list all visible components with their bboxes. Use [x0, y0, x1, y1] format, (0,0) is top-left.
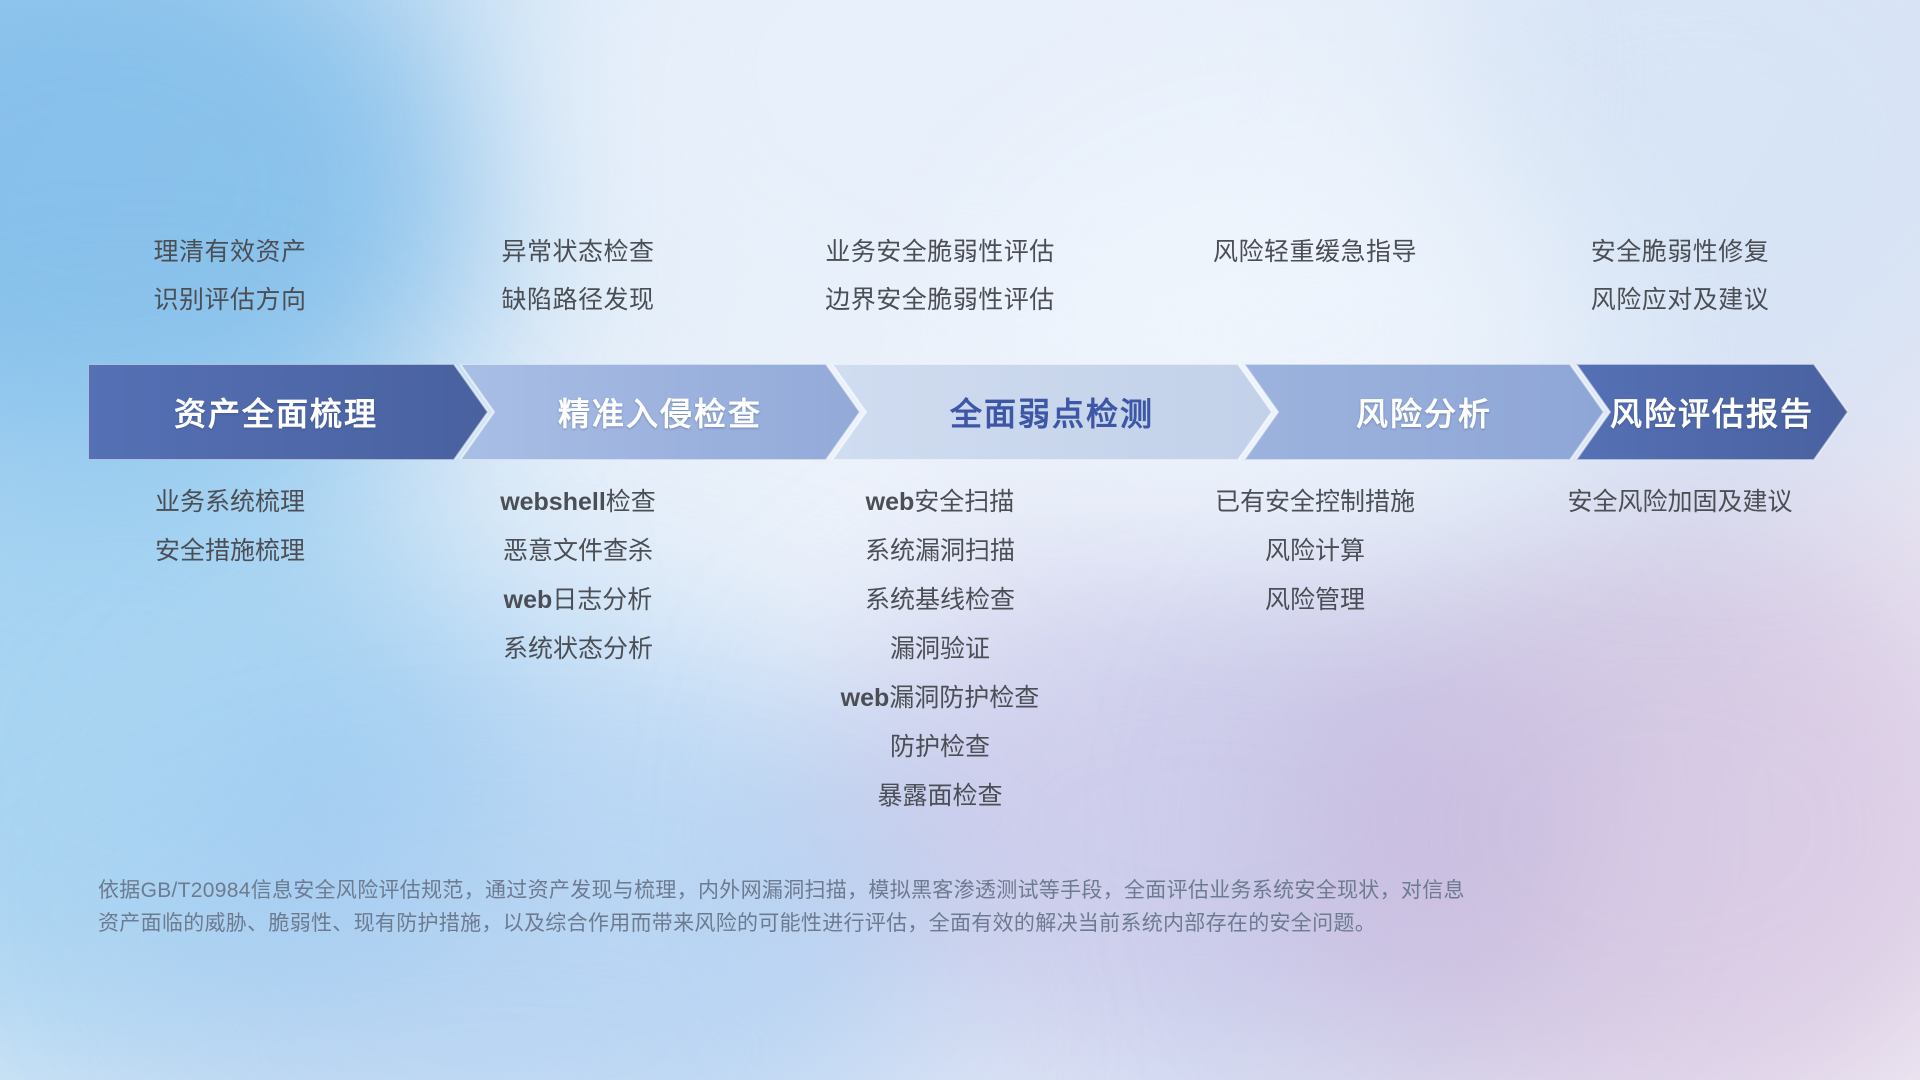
caption-line: 安全脆弱性修复 [1420, 228, 1920, 276]
list-item-prefix: web [866, 488, 915, 516]
process-arrow-intrusion-check[interactable]: 精准入侵检查 [460, 364, 860, 460]
process-arrow-weakness-detection[interactable]: 全面弱点检测 [832, 364, 1272, 460]
arrow-label: 风险评估报告 [1610, 389, 1814, 435]
list-item[interactable]: 漏洞验证 [680, 625, 1200, 674]
slide-canvas: 理清有效资产识别评估方向异常状态检查缺陷路径发现业务安全脆弱性评估边界安全脆弱性… [0, 0, 1920, 1080]
list-item-prefix: web [504, 586, 553, 614]
footer-description: 依据GB/T20984信息安全风险评估规范，通过资产发现与梳理，内外网漏洞扫描，… [98, 874, 1628, 940]
list-item[interactable]: 风险管理 [1055, 576, 1575, 625]
arrow-label: 全面弱点检测 [950, 389, 1154, 435]
list-item[interactable]: 防护检查 [680, 723, 1200, 772]
list-item-rest: 漏洞防护检查 [889, 684, 1039, 712]
process-arrow-asset-inventory[interactable]: 资产全面梳理 [88, 364, 488, 460]
top-captions-row: 理清有效资产识别评估方向异常状态检查缺陷路径发现业务安全脆弱性评估边界安全脆弱性… [0, 228, 1920, 348]
process-arrow-risk-analysis[interactable]: 风险分析 [1244, 364, 1604, 460]
arrow-label: 风险分析 [1356, 389, 1492, 435]
arrow-label: 精准入侵检查 [558, 389, 762, 435]
footer-line-2: 资产面临的威胁、脆弱性、现有防护措施，以及综合作用而带来风险的可能性进行评估，全… [98, 907, 1628, 940]
caption-line: 风险应对及建议 [1420, 276, 1920, 324]
list-item-rest: 安全扫描 [914, 488, 1014, 516]
caption-line: 边界安全脆弱性评估 [680, 276, 1200, 324]
list-item-rest: 日志分析 [552, 586, 652, 614]
list-item[interactable]: 安全风险加固及建议 [1420, 478, 1920, 527]
list-item-prefix: webshell [500, 488, 606, 516]
list-item-prefix: web [841, 684, 890, 712]
process-arrow-band: 资产全面梳理精准入侵检查全面弱点检测风险分析风险评估报告 [88, 364, 1848, 460]
top-caption-risk-report: 安全脆弱性修复风险应对及建议 [1420, 228, 1920, 324]
arrow-label: 资产全面梳理 [174, 389, 378, 435]
footer-line-1: 依据GB/T20984信息安全风险评估规范，通过资产发现与梳理，内外网漏洞扫描，… [98, 874, 1628, 907]
list-item[interactable]: 风险计算 [1055, 527, 1575, 576]
list-item-rest: 检查 [606, 488, 656, 516]
stage-list-risk-report: 安全风险加固及建议 [1420, 478, 1920, 527]
process-arrow-risk-report[interactable]: 风险评估报告 [1576, 364, 1848, 460]
list-item[interactable]: 暴露面检查 [680, 772, 1200, 821]
list-item[interactable]: web漏洞防护检查 [680, 674, 1200, 723]
